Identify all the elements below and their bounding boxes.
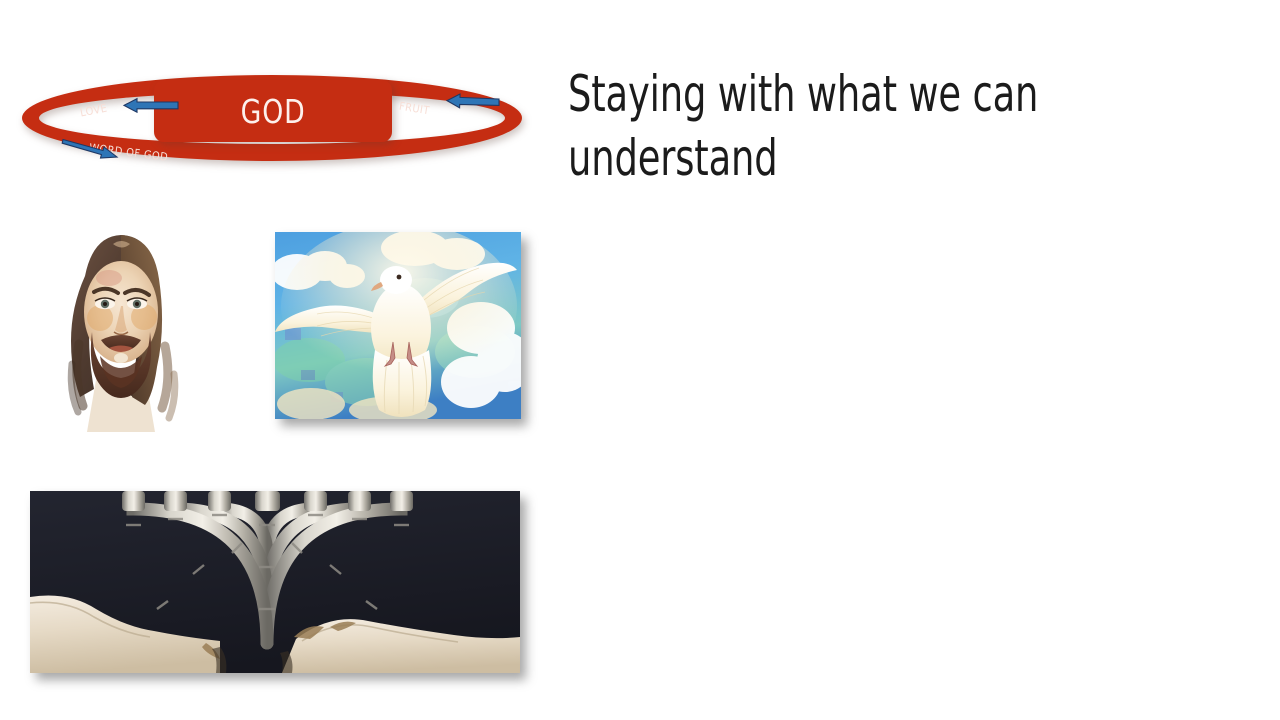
god-cycle-diagram: GOD LOVE FRUIT WORD OF GOD	[18, 72, 530, 176]
page-title: Staying with what we can understand	[568, 62, 1109, 190]
arrow-right-icon-word-of-god	[62, 137, 118, 159]
god-center-node[interactable]: GOD	[154, 80, 392, 142]
jesus-watercolor-image	[45, 224, 197, 432]
dove-photo-image	[275, 232, 521, 419]
arrow-left-icon-love	[123, 98, 179, 114]
menorah-photo-image	[30, 491, 520, 673]
slide-canvas: Staying with what we can understand GOD …	[0, 0, 1280, 720]
god-center-label: GOD	[240, 92, 305, 131]
arrow-left-icon-fruit	[446, 94, 500, 110]
